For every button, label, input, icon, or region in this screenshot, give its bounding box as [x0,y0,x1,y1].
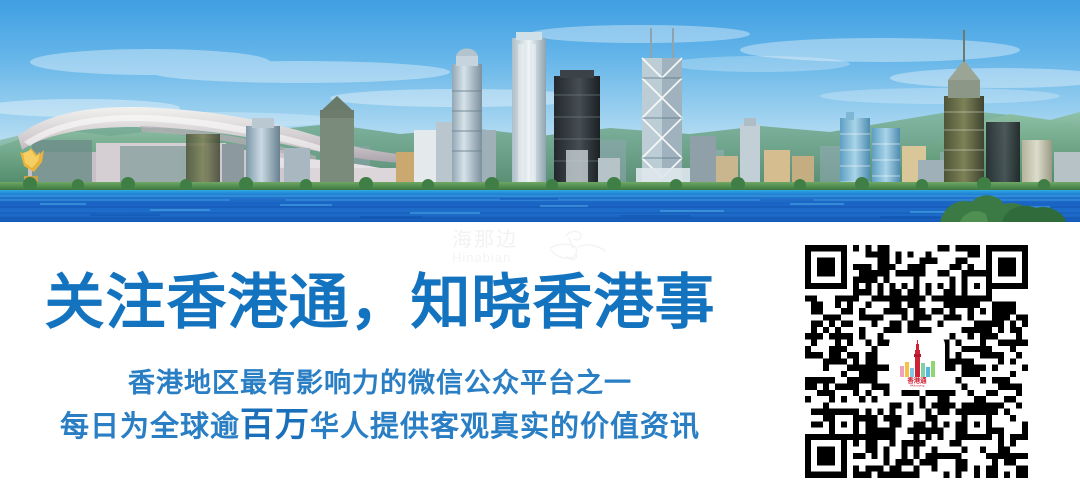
page-title: 关注香港通，知晓香港事 [0,270,760,336]
subtitle-emphasis: 百万 [240,405,310,445]
svg-text:HKknowing: HKknowing [909,383,924,387]
promo-copy-block: 关注香港通，知晓香港事 香港地区最有影响力的微信公众平台之一 每日为全球逾百万华… [0,222,790,503]
wechat-qr-code[interactable]: 香港通 HKknowing [805,245,1028,478]
ifc-tower [452,49,482,191]
subtitle-line-1: 香港地区最有影响力的微信公众平台之一 [0,368,760,400]
subtitle-prefix: 每日为全球逾 [60,409,240,443]
hong-kong-skyline-image [0,0,1080,222]
subtitle-line-2: 每日为全球逾百万华人提供客观真实的价值资讯 [0,408,760,443]
hongkongtong-logo: 香港通 HKknowing [891,336,943,388]
wechat-promo-banner: 海那边 Hinabian 关注香港通，知晓香港事 香港地区最有影响力的微信公众平… [0,0,1080,503]
subtitle-suffix: 华人提供客观真实的价值资讯 [310,409,700,443]
